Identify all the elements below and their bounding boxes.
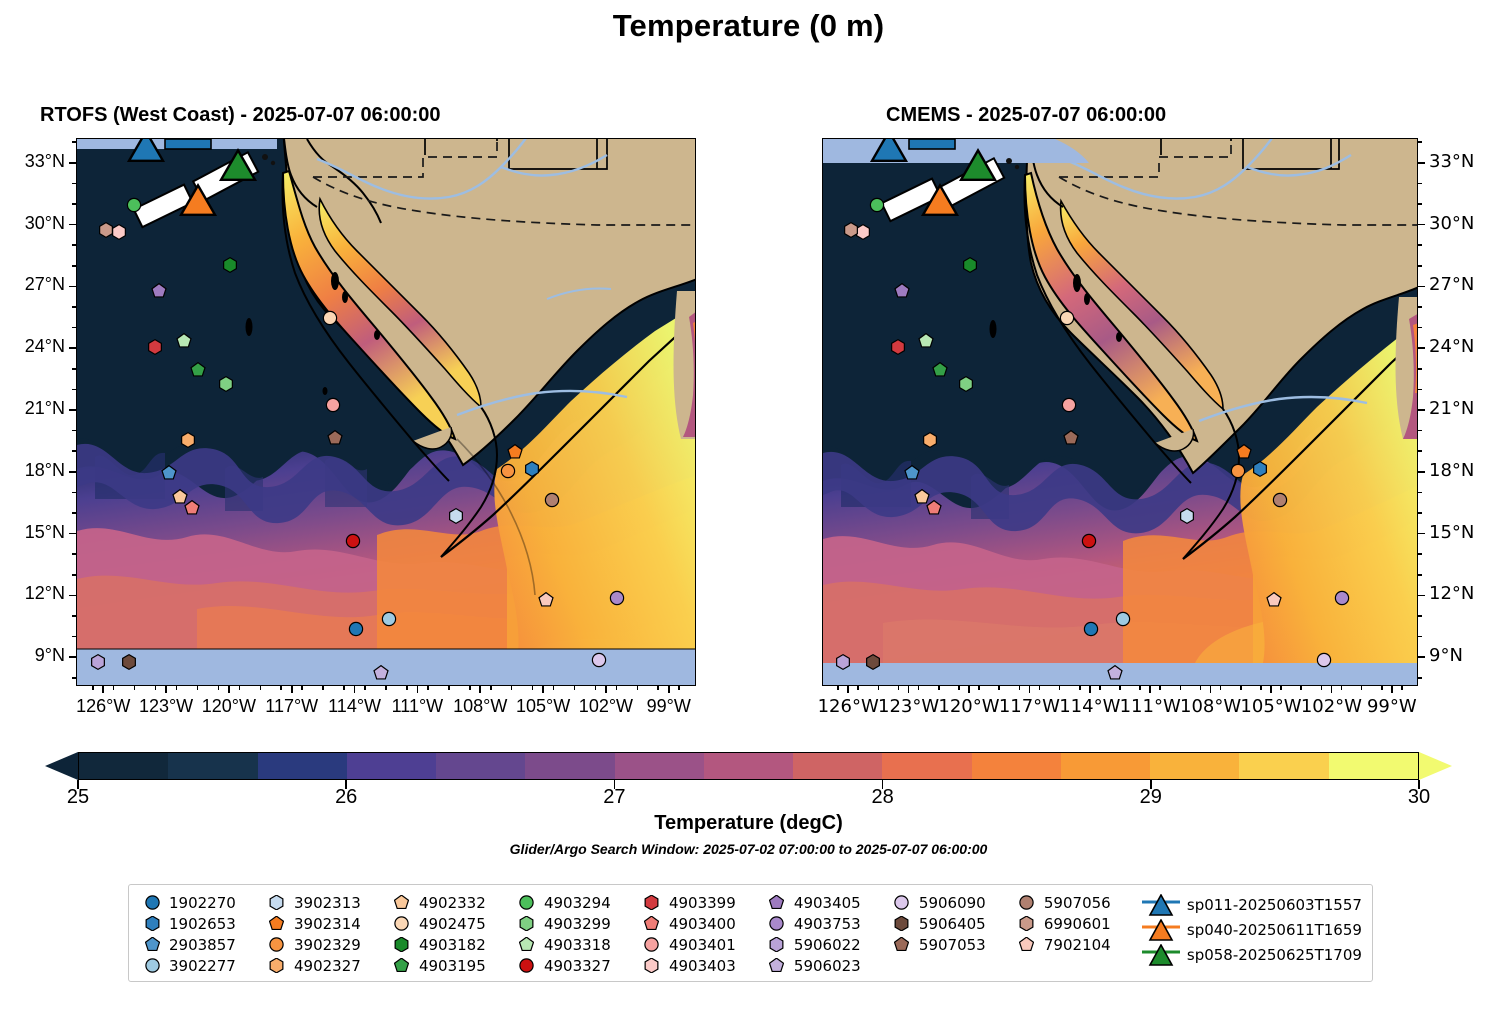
x-tick-minor	[218, 686, 220, 690]
legend-item-label: 4903294	[540, 894, 611, 912]
legend-item[interactable]: 4902327	[264, 955, 389, 976]
y-tick-minor	[1418, 492, 1422, 494]
x-tick-minor	[678, 686, 680, 690]
search-window-caption: Glider/Argo Search Window: 2025-07-02 07…	[0, 841, 1497, 857]
legend-item-label: 5906022	[790, 936, 861, 954]
x-tick-minor	[406, 686, 408, 690]
x-tick-minor	[958, 686, 960, 690]
y-tick	[1418, 656, 1425, 658]
hexagon-marker-icon	[389, 937, 415, 952]
x-tick-label: 111°W	[1120, 696, 1181, 717]
y-tick	[69, 533, 76, 535]
legend-item[interactable]: 6990601	[1014, 913, 1139, 934]
y-tick-minor	[1418, 553, 1422, 555]
y-tick	[1418, 286, 1425, 288]
y-tick	[69, 224, 76, 226]
y-tick-label: 30°N	[1429, 213, 1474, 234]
y-tick-label: 9°N	[0, 645, 65, 666]
y-tick-label: 27°N	[1429, 274, 1474, 295]
argo-marker[interactable]	[218, 377, 233, 392]
circle-marker-icon	[1014, 895, 1040, 910]
x-tick	[1391, 686, 1393, 693]
legend-item-label: 3902313	[290, 894, 361, 912]
argo-marker[interactable]	[922, 432, 937, 447]
legend-item[interactable]: sp040-20250611T1659	[1139, 917, 1362, 942]
x-tick-label: 123°W	[139, 696, 193, 717]
y-tick-label: 12°N	[1429, 583, 1474, 604]
argo-marker[interactable]	[958, 377, 973, 392]
x-tick	[1210, 686, 1212, 693]
x-tick-label: 126°W	[76, 696, 130, 717]
x-tick	[542, 686, 544, 693]
legend-item[interactable]: 7902104	[1014, 934, 1139, 955]
panel-title-cmems: CMEMS - 2025-07-07 06:00:00	[886, 104, 1166, 127]
argo-marker[interactable]	[346, 533, 361, 548]
x-tick-minor	[1381, 686, 1383, 690]
hexagon-marker-icon	[264, 895, 290, 910]
argo-marker[interactable]	[610, 591, 625, 606]
legend-item[interactable]: 5906405	[889, 913, 1014, 934]
colorbar-segment	[704, 753, 793, 779]
x-tick-minor	[1341, 686, 1343, 690]
legend-item[interactable]: 4902475	[389, 913, 514, 934]
x-tick-label: 114°W	[328, 696, 381, 717]
x-tick-label: 108°W	[1180, 696, 1241, 717]
x-tick-minor	[1079, 686, 1081, 690]
argo-marker[interactable]	[1230, 463, 1245, 478]
legend-item-label: 4903299	[540, 915, 611, 933]
legend-item[interactable]: 4903195	[389, 955, 514, 976]
legend-item-label: 4903327	[540, 957, 611, 975]
hexagon-marker-icon	[139, 916, 165, 931]
x-tick-label: 114°W	[1059, 696, 1120, 717]
x-tick	[479, 686, 481, 693]
panel-title-rtofs: RTOFS (West Coast) - 2025-07-07 06:00:00	[40, 104, 441, 127]
legend-item[interactable]: 4903182	[389, 934, 514, 955]
x-tick-minor	[1240, 686, 1242, 690]
legend-item[interactable]: 4902332	[389, 892, 514, 913]
y-tick-minor	[1418, 183, 1422, 185]
y-tick	[69, 347, 76, 349]
argo-marker[interactable]	[1252, 461, 1267, 476]
legend-column: 4903405490375359060225906023	[764, 892, 889, 976]
argo-marker[interactable]	[591, 653, 606, 668]
colorbar-segment	[1150, 753, 1239, 779]
y-tick-label: 27°N	[0, 274, 65, 295]
legend-item[interactable]: 5906022	[764, 934, 889, 955]
legend-column: 590705669906017902104	[1014, 892, 1139, 955]
x-tick	[165, 686, 167, 693]
legend-item[interactable]: 4903294	[514, 892, 639, 913]
legend-item[interactable]: 3902277	[139, 955, 264, 976]
map-canvas-cmems	[823, 139, 1417, 685]
argo-marker[interactable]	[1236, 445, 1251, 460]
x-tick-label: 105°W	[516, 696, 570, 717]
argo-marker[interactable]	[181, 432, 196, 447]
pentagon-marker-icon	[389, 895, 415, 910]
legend-item[interactable]: 3902314	[264, 913, 389, 934]
legend-column: 4903294490329949033184903327	[514, 892, 639, 976]
legend-item-label: sp011-20250603T1557	[1183, 896, 1362, 914]
legend-item[interactable]: 3902329	[264, 934, 389, 955]
y-tick-minor	[72, 389, 76, 391]
legend-item-label: 4903403	[665, 957, 736, 975]
argo-marker[interactable]	[918, 333, 933, 348]
legend-item-label: 4902332	[415, 894, 486, 912]
x-tick	[1331, 686, 1333, 693]
legend-column: 590609059064055907053	[889, 892, 1014, 955]
argo-marker[interactable]	[185, 500, 200, 515]
pentagon-marker-icon	[889, 937, 915, 952]
circle-marker-icon	[139, 958, 165, 973]
argo-marker[interactable]	[323, 311, 338, 326]
x-tick-minor	[1139, 686, 1141, 690]
argo-marker[interactable]	[1273, 492, 1288, 507]
argo-marker[interactable]	[449, 509, 464, 524]
argo-marker[interactable]	[962, 257, 977, 272]
legend-item-label: 4902475	[415, 915, 486, 933]
x-tick-minor	[1039, 686, 1041, 690]
argo-marker[interactable]	[325, 397, 340, 412]
x-tick-minor	[469, 686, 471, 690]
argo-marker[interactable]	[926, 500, 941, 515]
argo-marker[interactable]	[545, 492, 560, 507]
colorbar-tick-label: 25	[67, 786, 89, 809]
legend-item-label: sp058-20250625T1709	[1183, 946, 1362, 964]
y-tick-minor	[72, 306, 76, 308]
argo-marker[interactable]	[894, 284, 909, 299]
x-tick	[228, 686, 230, 693]
glider-marker[interactable]	[126, 138, 166, 171]
argo-marker[interactable]	[373, 665, 388, 680]
y-tick	[1418, 162, 1425, 164]
legend-item[interactable]: 5906090	[889, 892, 1014, 913]
colorbar-segment	[258, 753, 347, 779]
map-panel-cmems[interactable]	[822, 138, 1418, 686]
legend-item[interactable]: sp058-20250625T1709	[1139, 942, 1362, 967]
colorbar-tick-label: 28	[871, 786, 893, 809]
legend-item[interactable]: 4903753	[764, 913, 889, 934]
x-tick	[1029, 686, 1031, 693]
legend-item-label: 3902329	[290, 936, 361, 954]
y-tick	[1418, 409, 1425, 411]
legend-item-label: 4903405	[790, 894, 861, 912]
glider-marker[interactable]	[958, 150, 998, 190]
colorbar-segment	[436, 753, 525, 779]
y-tick-minor	[72, 677, 76, 679]
argo-marker[interactable]	[932, 362, 947, 377]
y-tick-minor	[1418, 306, 1422, 308]
pentagon-marker-icon	[764, 958, 790, 973]
argo-marker[interactable]	[870, 197, 885, 212]
legend-item[interactable]: 4903327	[514, 955, 639, 976]
argo-marker[interactable]	[866, 655, 881, 670]
x-tick	[291, 686, 293, 693]
legend-item-label: 4903182	[415, 936, 486, 954]
x-tick-minor	[1159, 686, 1161, 690]
y-tick-minor	[72, 203, 76, 205]
x-tick-minor	[448, 686, 450, 690]
y-tick	[69, 162, 76, 164]
legend-item[interactable]: 4903399	[639, 892, 764, 913]
argo-marker[interactable]	[904, 465, 919, 480]
argo-marker[interactable]	[162, 465, 177, 480]
argo-marker[interactable]	[1063, 430, 1078, 445]
legend-item[interactable]: 3902313	[264, 892, 389, 913]
y-tick-label: 18°N	[1429, 460, 1474, 481]
argo-marker[interactable]	[122, 655, 137, 670]
y-tick-label: 21°N	[0, 398, 65, 419]
argo-marker[interactable]	[890, 340, 905, 355]
circle-marker-icon	[389, 916, 415, 931]
x-tick-minor	[878, 686, 880, 690]
x-tick	[102, 686, 104, 693]
y-tick-minor	[72, 512, 76, 514]
colorbar-segment	[615, 753, 704, 779]
colorbar-tick-label: 29	[1140, 786, 1162, 809]
argo-marker[interactable]	[1116, 612, 1131, 627]
y-tick-label: 33°N	[0, 151, 65, 172]
x-tick-minor	[427, 686, 429, 690]
pentagon-marker-icon	[514, 937, 540, 952]
y-tick-label: 9°N	[1429, 645, 1463, 666]
x-tick-minor	[322, 686, 324, 690]
x-tick-minor	[998, 686, 1000, 690]
x-tick-minor	[197, 686, 199, 690]
x-tick-label: 120°W	[938, 696, 999, 717]
y-tick-minor	[1418, 368, 1422, 370]
legend[interactable]: 1902270190265329038573902277390231339023…	[128, 884, 1373, 982]
y-tick-minor	[1418, 203, 1422, 205]
y-tick-minor	[1418, 450, 1422, 452]
x-tick	[417, 686, 419, 693]
x-tick-label: 117°W	[265, 696, 318, 717]
y-tick-label: 15°N	[0, 522, 65, 543]
colorbar-segment	[972, 753, 1061, 779]
x-tick-minor	[1099, 686, 1101, 690]
y-tick	[1418, 533, 1425, 535]
figure-suptitle: Temperature (0 m)	[0, 8, 1497, 44]
colorbar-segment	[793, 753, 882, 779]
y-tick-label: 24°N	[0, 336, 65, 357]
x-tick-minor	[837, 686, 839, 690]
y-tick	[69, 409, 76, 411]
x-tick-label: 102°W	[579, 696, 633, 717]
legend-item[interactable]: 1902653	[139, 913, 264, 934]
argo-marker[interactable]	[1059, 311, 1074, 326]
y-tick-minor	[1418, 327, 1422, 329]
x-tick	[1270, 686, 1272, 693]
argo-marker[interactable]	[126, 197, 141, 212]
argo-marker[interactable]	[501, 463, 516, 478]
legend-item[interactable]: 5906023	[764, 955, 889, 976]
argo-marker[interactable]	[507, 445, 522, 460]
y-tick	[1418, 471, 1425, 473]
y-tick-minor	[1418, 265, 1422, 267]
argo-marker[interactable]	[1335, 591, 1350, 606]
argo-marker[interactable]	[1317, 653, 1332, 668]
argo-marker[interactable]	[1107, 665, 1122, 680]
argo-marker[interactable]	[1267, 593, 1282, 608]
glider-marker[interactable]	[178, 185, 218, 225]
y-tick-minor	[72, 553, 76, 555]
x-tick-label: 99°W	[647, 696, 691, 717]
y-tick-minor	[72, 183, 76, 185]
circle-marker-icon	[889, 895, 915, 910]
argo-marker[interactable]	[147, 340, 162, 355]
legend-item[interactable]: 4903400	[639, 913, 764, 934]
x-tick-minor	[239, 686, 241, 690]
x-tick-minor	[364, 686, 366, 690]
argo-marker[interactable]	[524, 461, 539, 476]
colorbar-extend-max	[1419, 752, 1452, 780]
triangle-marker-icon	[1139, 944, 1183, 966]
legend-item[interactable]: 1902270	[139, 892, 264, 913]
circle-marker-icon	[514, 895, 540, 910]
colorbar-label: Temperature (degC)	[0, 812, 1497, 835]
x-tick-label: 108°W	[453, 696, 507, 717]
legend-column: 3902313390231439023294902327	[264, 892, 389, 976]
colorbar-segment	[1329, 753, 1418, 779]
y-tick-minor	[72, 265, 76, 267]
y-tick-minor	[1418, 141, 1422, 143]
legend-item[interactable]: 4903401	[639, 934, 764, 955]
argo-marker[interactable]	[836, 655, 851, 670]
argo-marker[interactable]	[844, 222, 859, 237]
x-tick-minor	[280, 686, 282, 690]
x-tick-minor	[857, 686, 859, 690]
y-tick	[69, 595, 76, 597]
x-tick-label: 102°W	[1301, 696, 1362, 717]
argo-marker[interactable]	[191, 362, 206, 377]
x-tick-minor	[978, 686, 980, 690]
glider-marker[interactable]	[920, 185, 960, 225]
legend-item[interactable]: 5907056	[1014, 892, 1139, 913]
argo-marker[interactable]	[1061, 397, 1076, 412]
legend-item-label: 4902327	[290, 957, 361, 975]
colorbar-tick-label: 27	[603, 786, 625, 809]
legend-item-label: 5907056	[1040, 894, 1111, 912]
hexagon-marker-icon	[264, 958, 290, 973]
legend-item-label: 5907053	[915, 936, 986, 954]
x-tick	[668, 686, 670, 693]
x-tick-minor	[1019, 686, 1021, 690]
y-tick-minor	[72, 450, 76, 452]
x-tick-minor	[898, 686, 900, 690]
colorbar-segment	[168, 753, 257, 779]
argo-marker[interactable]	[1081, 533, 1096, 548]
argo-marker[interactable]	[327, 430, 342, 445]
y-tick-minor	[72, 141, 76, 143]
legend-item[interactable]: sp011-20250603T1557	[1139, 892, 1362, 917]
x-tick-label: 126°W	[818, 696, 879, 717]
circle-marker-icon	[264, 937, 290, 952]
argo-marker[interactable]	[90, 655, 105, 670]
x-tick-minor	[155, 686, 157, 690]
x-tick	[1149, 686, 1151, 693]
legend-item-label: 3902314	[290, 915, 361, 933]
legend-item-label: sp040-20250611T1659	[1183, 921, 1362, 939]
legend-item-label: 4903753	[790, 915, 861, 933]
argo-marker[interactable]	[1083, 622, 1098, 637]
y-tick	[1418, 595, 1425, 597]
x-tick-minor	[637, 686, 639, 690]
argo-marker[interactable]	[222, 257, 237, 272]
legend-item[interactable]: 2903857	[139, 934, 264, 955]
x-tick-minor	[343, 686, 345, 690]
y-tick-minor	[1418, 615, 1422, 617]
circle-marker-icon	[639, 937, 665, 952]
hexagon-marker-icon	[514, 916, 540, 931]
legend-item-label: 5906023	[790, 957, 861, 975]
colorbar-tick-label: 26	[335, 786, 357, 809]
argo-marker[interactable]	[539, 593, 554, 608]
x-tick	[968, 686, 970, 693]
y-tick-label: 21°N	[1429, 398, 1474, 419]
hexagon-marker-icon	[764, 937, 790, 952]
map-panel-rtofs[interactable]	[76, 138, 696, 686]
pentagon-marker-icon	[264, 916, 290, 931]
argo-marker[interactable]	[348, 622, 363, 637]
legend-item-label: 5906405	[915, 915, 986, 933]
triangle-marker-icon	[1139, 894, 1183, 916]
legend-item-label: 4903400	[665, 915, 736, 933]
colorbar-segment	[1061, 753, 1150, 779]
y-tick-minor	[72, 636, 76, 638]
pentagon-marker-icon	[139, 937, 165, 952]
pentagon-marker-icon	[639, 916, 665, 931]
y-tick-minor	[1418, 244, 1422, 246]
legend-item-label: 4903401	[665, 936, 736, 954]
x-tick-minor	[938, 686, 940, 690]
argo-marker[interactable]	[99, 222, 114, 237]
colorbar-segment	[1239, 753, 1328, 779]
legend-item-label: 4903195	[415, 957, 486, 975]
x-tick-minor	[1280, 686, 1282, 690]
x-tick-minor	[134, 686, 136, 690]
x-tick-minor	[260, 686, 262, 690]
x-tick-label: 120°W	[202, 696, 256, 717]
legend-item[interactable]: 4903403	[639, 955, 764, 976]
glider-marker[interactable]	[218, 150, 258, 190]
y-tick-minor	[72, 244, 76, 246]
x-tick-minor	[657, 686, 659, 690]
legend-column: sp011-20250603T1557sp040-20250611T1659sp…	[1139, 892, 1362, 967]
x-tick-label: 123°W	[878, 696, 939, 717]
legend-item[interactable]: 4903405	[764, 892, 889, 913]
legend-item[interactable]: 4903299	[514, 913, 639, 934]
legend-item[interactable]: 4903318	[514, 934, 639, 955]
x-tick	[605, 686, 607, 693]
colorbar[interactable]	[45, 752, 1452, 780]
argo-marker[interactable]	[151, 284, 166, 299]
colorbar-extend-min	[45, 752, 78, 780]
glider-marker[interactable]	[869, 138, 909, 171]
pentagon-marker-icon	[1014, 937, 1040, 952]
x-tick-minor	[113, 686, 115, 690]
argo-marker[interactable]	[382, 612, 397, 627]
y-tick	[1418, 347, 1425, 349]
circle-marker-icon	[764, 916, 790, 931]
legend-item[interactable]: 5907053	[889, 934, 1014, 955]
y-tick-label: 24°N	[1429, 336, 1474, 357]
y-tick-label: 18°N	[0, 460, 65, 481]
argo-marker[interactable]	[176, 333, 191, 348]
hexagon-marker-icon	[1014, 916, 1040, 931]
legend-item-label: 4903318	[540, 936, 611, 954]
argo-marker[interactable]	[1180, 509, 1195, 524]
x-tick-minor	[574, 686, 576, 690]
